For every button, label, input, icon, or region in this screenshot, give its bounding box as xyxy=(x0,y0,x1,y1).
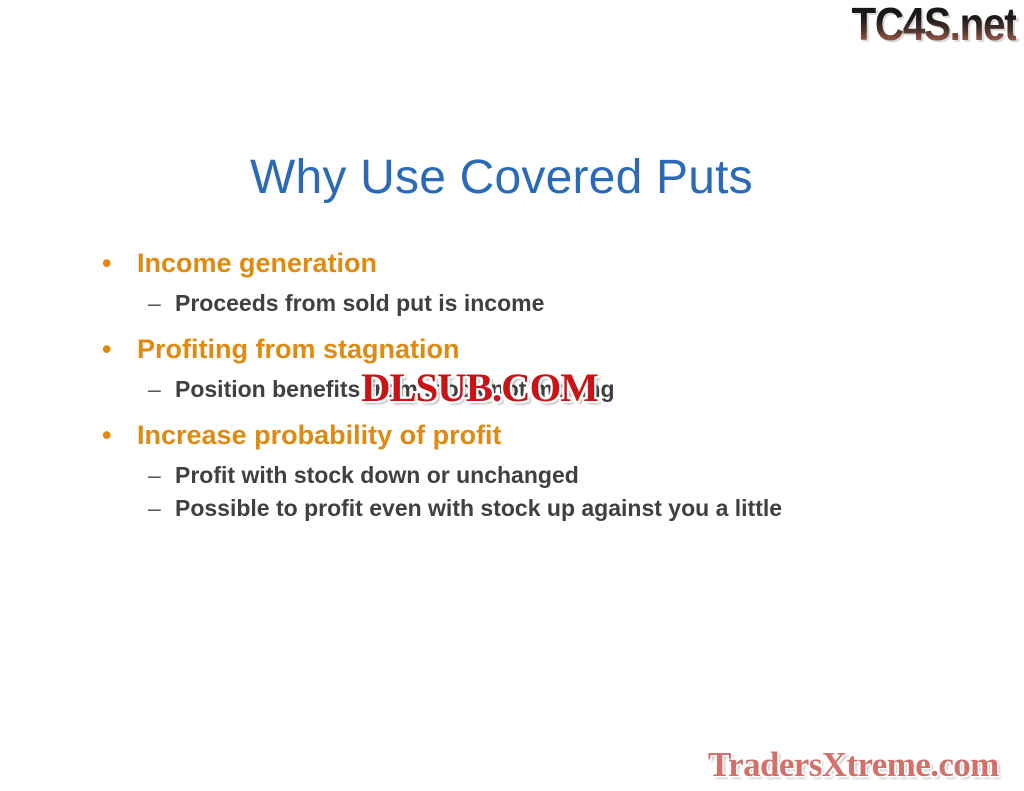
bullet-level2-label: Proceeds from sold put is income xyxy=(175,290,544,316)
bullet-dot-icon: • xyxy=(102,248,112,278)
bullet-dash-icon: – xyxy=(148,376,161,403)
bullet-level1: • Profiting from stagnation xyxy=(96,334,956,364)
page-title: Why Use Covered Puts xyxy=(250,149,753,207)
bullet-level2-label: Profit with stock down or unchanged xyxy=(175,462,579,488)
bullet-dash-icon: – xyxy=(148,462,161,489)
bullet-level1: • Income generation xyxy=(96,248,956,278)
tc4s-logo: TC4S.net xyxy=(851,0,1016,48)
bullet-level2: – Profit with stock down or unchanged xyxy=(96,462,956,489)
bullet-level1-label: Income generation xyxy=(137,248,377,278)
bullet-level2: – Proceeds from sold put is income xyxy=(96,290,956,317)
slide-canvas: TC4S.net TC4S.net Why Use Covered Puts •… xyxy=(0,0,1024,791)
bullet-dash-icon: – xyxy=(148,290,161,317)
bullet-level2-label: Possible to profit even with stock up ag… xyxy=(175,495,782,521)
bullet-dash-icon: – xyxy=(148,495,161,522)
bullet-level2: – Possible to profit even with stock up … xyxy=(96,495,956,522)
bullet-dot-icon: • xyxy=(102,334,112,364)
dlsub-watermark: DLSUB.COM xyxy=(361,368,598,408)
tradersxtreme-logo: TradersXtreme.com xyxy=(708,746,999,784)
bullet-level1-label: Profiting from stagnation xyxy=(137,334,459,364)
bullet-level1-label: Increase probability of profit xyxy=(137,420,502,450)
bullet-level1: • Increase probability of profit xyxy=(96,420,956,450)
bullet-dot-icon: • xyxy=(102,420,112,450)
outline-group: • Income generation – Proceeds from sold… xyxy=(96,248,956,317)
outline-group: • Increase probability of profit – Profi… xyxy=(96,420,956,522)
